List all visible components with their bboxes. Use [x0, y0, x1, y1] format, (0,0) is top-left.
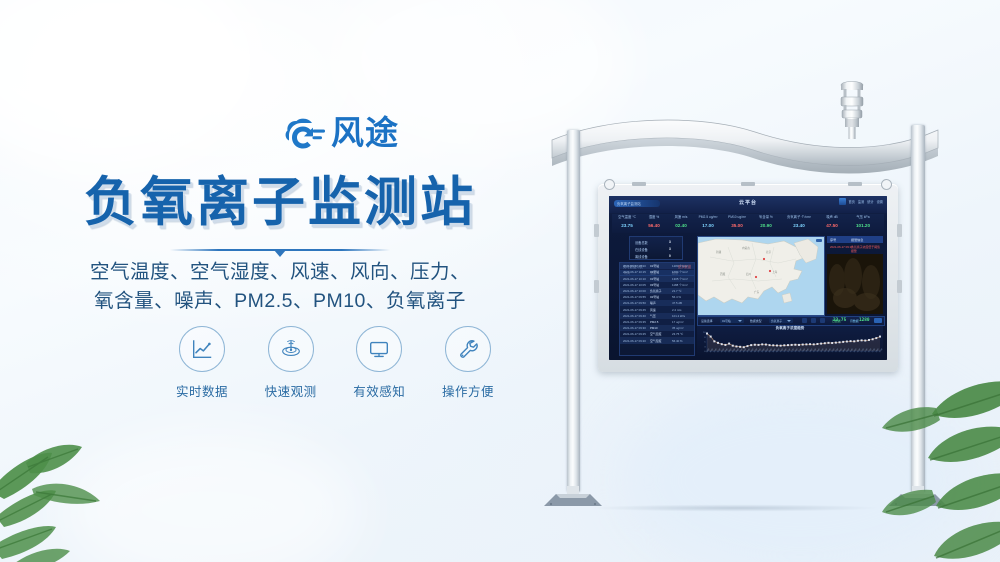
page-title: 负氧离子监测站 — [0, 160, 560, 236]
feature-icon-ring — [268, 326, 314, 372]
svg-text:10: 10 — [703, 332, 706, 334]
support-post-icon — [567, 130, 580, 492]
stat-row: 设备总数 3 — [635, 240, 648, 245]
svg-text:新疆: 新疆 — [716, 250, 722, 254]
cell-time: 2021-06-17 10:10 — [623, 277, 646, 281]
dashboard: 云平台 负氧离子监测站 首页 监测 统计 设置 空气温度 ℃ — [609, 196, 887, 360]
cell-value: 35 ug/m³ — [672, 326, 683, 330]
wrench-tool-icon — [456, 337, 480, 361]
kpi-label: 气压 kPa — [848, 214, 878, 221]
kpi-value: 02.40 — [666, 221, 696, 230]
map-landmass: 新疆内蒙古 北京西藏 四川上海 广东 — [698, 237, 824, 315]
cell-value: 17 ug/m³ — [672, 320, 683, 324]
camera-feed-panel[interactable] — [827, 254, 883, 314]
display-enclosure: 云平台 负氧离子监测站 首页 监测 统计 设置 空气温度 ℃ — [598, 184, 898, 372]
kpi-cell: 噪声 dB 47.50 — [817, 214, 847, 230]
fengtu-wind-g-logo-icon — [282, 112, 324, 154]
map-zoom-control[interactable] — [816, 239, 822, 242]
datatype-select[interactable]: 负氧离子 — [769, 318, 793, 323]
control-button-a[interactable] — [802, 318, 807, 323]
kpi-value: 20.90 — [751, 221, 781, 230]
feature-label: 实时数据 — [170, 381, 234, 400]
nav-label-2: 统计 — [867, 199, 873, 204]
cell-time: 2021-06-17 09:40 — [623, 314, 646, 318]
datatype-select-value: 负氧离子 — [771, 319, 782, 323]
cell-time: 2021-06-17 09:20 — [623, 339, 646, 343]
feature-icon-ring — [445, 326, 491, 372]
stat-label: 离线设备 — [635, 255, 648, 259]
cell-device: 负氧离子 — [650, 289, 662, 293]
side-lug-icon — [897, 280, 902, 293]
cell-time: 2021-06-17 10:05 — [623, 283, 646, 287]
cell-time: 2021-06-17 09:50 — [623, 301, 646, 305]
kpi-value: 101.20 — [848, 221, 878, 230]
chevron-down-icon — [787, 320, 791, 322]
device-select-value: 01号站 — [722, 319, 731, 323]
alert-col-index: 序号 — [830, 237, 836, 242]
kpi-label: 空气温度 ℃ — [612, 214, 642, 221]
cell-device: PM10 — [650, 326, 658, 330]
kpi-value: 47.50 — [817, 221, 847, 230]
kpi-cell: 湿度 % 56.40 — [639, 214, 669, 230]
cell-time: 2021-06-17 09:25 — [623, 332, 646, 336]
device-select[interactable]: 01号站 — [720, 318, 744, 323]
alert-message: 负氧离子浓度低于阈值 报警 — [851, 245, 883, 253]
wave-canopy-icon — [550, 118, 940, 180]
cell-device: 03号站 — [650, 283, 659, 287]
promo-banner: 风途 负氧离子监测站 空气温度、空气湿度、风速、风向、压力、 氧含量、噪声、PM… — [0, 0, 1000, 562]
led-value-temperature: 23.75 — [833, 318, 846, 323]
station-pill[interactable]: 负氧离子监测站 — [614, 200, 660, 207]
cell-device: 空气湿度 — [650, 339, 662, 343]
base-plate-icon — [542, 486, 604, 508]
kpi-strip: 空气温度 ℃ 23.75 湿度 % 56.40 风速 m/s 02.40 P — [612, 214, 884, 233]
kpi-label: 湿度 % — [639, 214, 669, 221]
feature-icon-ring — [179, 326, 225, 372]
cell-value: 1764 个/cm³ — [672, 270, 688, 274]
svg-text:北京: 北京 — [766, 250, 772, 254]
cell-value: 56.4 % — [672, 295, 681, 299]
kpi-cell: 风速 m/s 02.40 — [666, 214, 696, 230]
stat-label: 在线设备 — [635, 248, 648, 252]
cell-time: 2021-06-17 09:30 — [623, 326, 646, 330]
feature-item-realtime-data[interactable]: 实时数据 — [170, 326, 234, 400]
svg-text:上海: 上海 — [772, 270, 778, 274]
cell-value: 101.2 kPa — [672, 314, 685, 318]
subtitle-line-2: 氧含量、噪声、PM2.5、PM10、负氧离子 — [0, 287, 560, 316]
kpi-cell: PM10 ug/m³ 35.00 — [722, 214, 752, 230]
kpi-cell: 氧含量 % 20.90 — [751, 214, 781, 230]
cell-device: 01号站 — [650, 264, 659, 268]
alert-time: 2021-06-17 09:12 — [830, 245, 853, 249]
title-divider — [0, 245, 560, 259]
kpi-cell: PM2.5 ug/m³ 17.00 — [693, 214, 723, 230]
cell-device: 噪声 — [650, 301, 656, 305]
mount-tab-icon — [741, 182, 755, 186]
cell-time: 2021-06-17 10:00 — [623, 289, 646, 293]
led-readouts: 23.75 1280 — [831, 318, 885, 328]
cell-device: 空气温度 — [650, 332, 662, 336]
kpi-label: PM2.5 ug/m³ — [693, 214, 723, 221]
side-lug-icon — [594, 280, 599, 293]
table-row[interactable]: 2021-06-17 09:20空气湿度56.40 % — [620, 337, 694, 343]
cell-time: 2021-06-17 09:55 — [623, 295, 646, 299]
line-chart-icon — [190, 337, 214, 361]
stat-row: 离线设备 0 — [635, 254, 648, 259]
kpi-cell: 空气温度 ℃ 23.75 — [612, 214, 642, 230]
realtime-data-table[interactable]: 实时数据列表 更多数据 时间 设备 数值 2021-06-17 10:2001号… — [619, 262, 695, 356]
cell-device: 01号站 — [650, 277, 659, 281]
kpi-label: 负氧离子 个/cm³ — [780, 214, 818, 221]
control-button-c[interactable] — [820, 318, 825, 323]
cell-value: 47.5 dB — [672, 301, 682, 305]
base-plate-icon — [887, 486, 949, 508]
chevron-down-icon — [738, 320, 742, 322]
control-label-device: 设备选择 — [701, 319, 713, 323]
feature-label: 操作方便 — [436, 381, 500, 400]
cell-device: 02号站 — [650, 295, 659, 299]
cell-value: 1188 个/cm³ — [672, 283, 688, 287]
lifting-eye-icon — [604, 179, 615, 190]
kpi-value: 56.40 — [639, 221, 669, 230]
kpi-label: 风速 m/s — [666, 214, 696, 221]
feature-list: 实时数据 快速观测 — [170, 326, 500, 400]
cell-value: 2.4 m/s — [672, 308, 681, 312]
svg-text:广东: 广东 — [754, 290, 760, 294]
side-lug-icon — [897, 224, 902, 237]
side-lug-icon — [594, 224, 599, 237]
cell-value: 21.7 ℃ — [672, 289, 682, 293]
feature-icon-ring — [356, 326, 402, 372]
monitor-screen-icon — [367, 337, 391, 361]
trend-chart-panel: 负氧离子浓度趋势 10853000:0000:3001:0001:3002:00… — [697, 326, 883, 358]
kpi-value: 17.00 — [693, 221, 723, 230]
alert-header: 序号 报警信息 — [827, 236, 883, 243]
subtitle-line-1: 空气温度、空气湿度、风速、风向、压力、 — [0, 258, 560, 287]
nav-label-1: 监测 — [858, 199, 864, 204]
brand-name: 风途 — [331, 112, 399, 154]
stat-row: 在线设备 3 — [635, 247, 648, 252]
mount-tab-icon — [632, 182, 646, 186]
feature-label: 快速观测 — [259, 381, 323, 400]
cell-device: 02号站 — [650, 270, 659, 274]
nav-icon-home[interactable] — [839, 198, 846, 205]
alert-col-message: 报警信息 — [851, 237, 863, 242]
cell-time: 2021-06-17 10:20 — [623, 264, 646, 268]
feature-label: 有效感知 — [347, 381, 411, 400]
kpi-value: 23.40 — [780, 221, 818, 230]
svg-text:西藏: 西藏 — [720, 272, 726, 276]
support-post-icon — [911, 125, 925, 492]
subtitle: 空气温度、空气湿度、风速、风向、压力、 氧含量、噪声、PM2.5、PM10、负氧… — [0, 258, 560, 316]
mount-tab-icon — [848, 182, 862, 186]
hero-text-column: 风途 负氧离子监测站 空气温度、空气湿度、风速、风向、压力、 氧含量、噪声、PM… — [0, 0, 560, 562]
control-button-b[interactable] — [811, 318, 816, 323]
control-label-type: 数据类型 — [750, 319, 762, 323]
cell-value: 23.75 ℃ — [672, 332, 683, 336]
kpi-value: 35.00 — [722, 221, 752, 230]
nav-label-3: 设置 — [877, 199, 883, 204]
cell-time: 2021-06-17 09:45 — [623, 308, 646, 312]
stat-label: 设备总数 — [635, 241, 648, 245]
kpi-label: PM10 ug/m³ — [722, 214, 752, 221]
kpi-cell: 气压 kPa 101.20 — [848, 214, 878, 230]
brand-logo: 风途 — [282, 112, 399, 154]
trend-chart-svg: 10853000:0000:3001:0001:3002:0002:3003:0… — [697, 330, 883, 358]
alert-panel: 序号 报警信息 2021-06-17 09:12 负氧离子浓度低于阈值 报警 — [827, 236, 883, 252]
svg-text:3: 3 — [704, 346, 706, 348]
nav-label-0: 首页 — [849, 199, 855, 204]
cell-value: 56.40 % — [672, 339, 683, 343]
feature-item-fast-observation[interactable]: 快速观测 — [259, 326, 323, 400]
device-stats-panel: 设备总数 3 在线设备 3 离线设备 0 — [629, 236, 683, 260]
header-nav-icons[interactable]: 首页 监测 统计 设置 — [839, 198, 884, 205]
cell-time: 2021-06-17 09:35 — [623, 320, 646, 324]
feature-item-easy-operation[interactable]: 操作方便 — [436, 326, 500, 400]
china-map-panel[interactable]: 新疆内蒙古 北京西藏 四川上海 广东 — [697, 236, 825, 316]
lifting-eye-icon — [881, 179, 892, 190]
monitoring-station: 云平台 负氧离子监测站 首页 监测 统计 设置 空气温度 ℃ — [520, 0, 1000, 562]
cell-value: 1305 个/cm³ — [672, 277, 688, 281]
stat-value: 0 — [669, 254, 671, 258]
kpi-value: 23.75 — [612, 221, 642, 230]
radar-signal-icon — [279, 337, 303, 361]
cell-device: PM2.5 — [650, 320, 658, 324]
svg-text:5: 5 — [704, 342, 706, 344]
alert-row[interactable]: 2021-06-17 09:12 负氧离子浓度低于阈值 报警 — [827, 244, 883, 250]
cell-device: 气压 — [650, 314, 656, 318]
cell-device: 风速 — [650, 308, 656, 312]
feature-item-effective-sensing[interactable]: 有效感知 — [347, 326, 411, 400]
cell-time: 2021-06-17 10:15 — [623, 270, 646, 274]
station-pill-label: 负氧离子监测站 — [617, 201, 641, 206]
divider-triangle-icon — [274, 250, 286, 257]
led-value-ion: 1280 — [859, 318, 870, 323]
stat-value: 3 — [669, 247, 671, 251]
svg-text:内蒙古: 内蒙古 — [742, 246, 750, 250]
dashboard-screen[interactable]: 云平台 负氧离子监测站 首页 监测 统计 设置 空气温度 ℃ — [609, 196, 887, 360]
svg-text:8: 8 — [704, 337, 706, 339]
kpi-label: 噪声 dB — [817, 214, 847, 221]
cell-value: 1280 个/cm³ — [672, 264, 688, 268]
svg-text:四川: 四川 — [746, 272, 752, 276]
kpi-cell: 负氧离子 个/cm³ 23.40 — [780, 214, 818, 230]
stat-value: 3 — [669, 240, 671, 244]
kpi-label: 氧含量 % — [751, 214, 781, 221]
